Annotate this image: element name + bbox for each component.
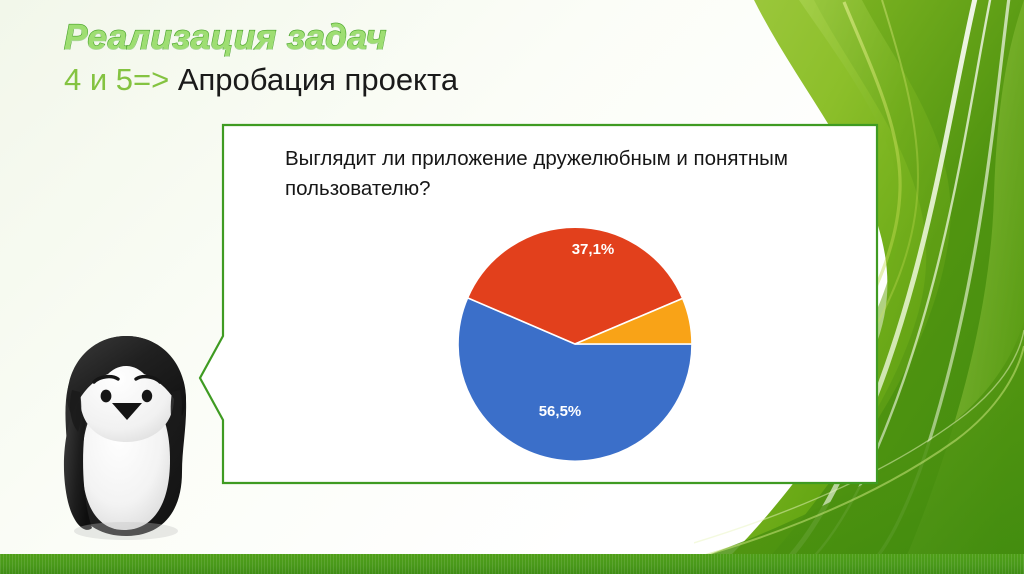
subtitle-text: Апробация проекта <box>178 62 458 97</box>
pie-label-blue: 56,5% <box>539 403 582 420</box>
callout-content: Выглядит ли приложение дружелюбным и пон… <box>223 122 880 486</box>
pie-label-red: 37,1% <box>572 241 615 258</box>
subtitle-step-numbers: 4 и 5=> <box>64 62 178 97</box>
bottom-accent-bar <box>0 554 1024 574</box>
page-subtitle: 4 и 5=> Апробация проекта <box>64 64 724 97</box>
pie-chart: 37,1% 56,5% <box>455 224 695 464</box>
page-title: Реализация задач <box>64 20 724 55</box>
slide-canvas: Реализация задач 4 и 5=> Апробация проек… <box>0 0 1024 574</box>
pie-slices <box>458 227 692 461</box>
callout-panel: Выглядит ли приложение дружелюбным и пон… <box>198 122 880 486</box>
penguin-illustration <box>48 330 208 548</box>
question-text: Выглядит ли приложение дружелюбным и пон… <box>285 144 830 203</box>
title-block: Реализация задач 4 и 5=> Апробация проек… <box>64 20 724 97</box>
